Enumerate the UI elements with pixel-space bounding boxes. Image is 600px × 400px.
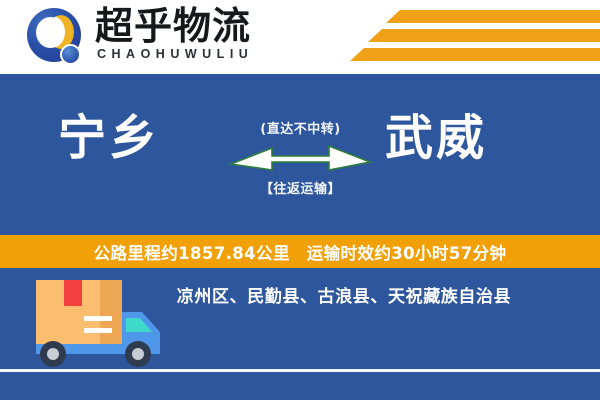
delivery-truck-icon bbox=[22, 276, 174, 374]
destination-city-label: 武威 bbox=[385, 110, 487, 166]
logo-blue-dot-icon bbox=[60, 44, 81, 65]
brand-name-cn: 超乎物流 bbox=[95, 5, 251, 47]
distance-duration-bar: 公路里程约1857.84公里 运输时效约30小时57分钟 bbox=[0, 235, 600, 268]
roundtrip-note: 【往返运输】 bbox=[228, 178, 373, 197]
origin-city-label: 宁乡 bbox=[58, 110, 160, 166]
brand-name-en: CHAOHUWULIU bbox=[97, 47, 253, 61]
orange-speed-stripes-icon bbox=[340, 10, 600, 66]
distance-duration-text: 公路里程约1857.84公里 运输时效约30小时57分钟 bbox=[94, 240, 507, 264]
route-panel: 宁乡 (直达不中转) 【往返运输】 武威 bbox=[0, 74, 600, 235]
direct-service-note: (直达不中转) bbox=[228, 118, 373, 137]
route-middle-block: (直达不中转) 【往返运输】 bbox=[228, 118, 373, 197]
header: 超乎物流 CHAOHUWULIU bbox=[0, 0, 600, 74]
company-logo-icon bbox=[27, 8, 89, 68]
double-headed-arrow-icon bbox=[228, 140, 373, 174]
logistics-route-banner: 超乎物流 CHAOHUWULIU 宁乡 (直达不中转) 【往返运输】 武威 公路… bbox=[0, 0, 600, 400]
